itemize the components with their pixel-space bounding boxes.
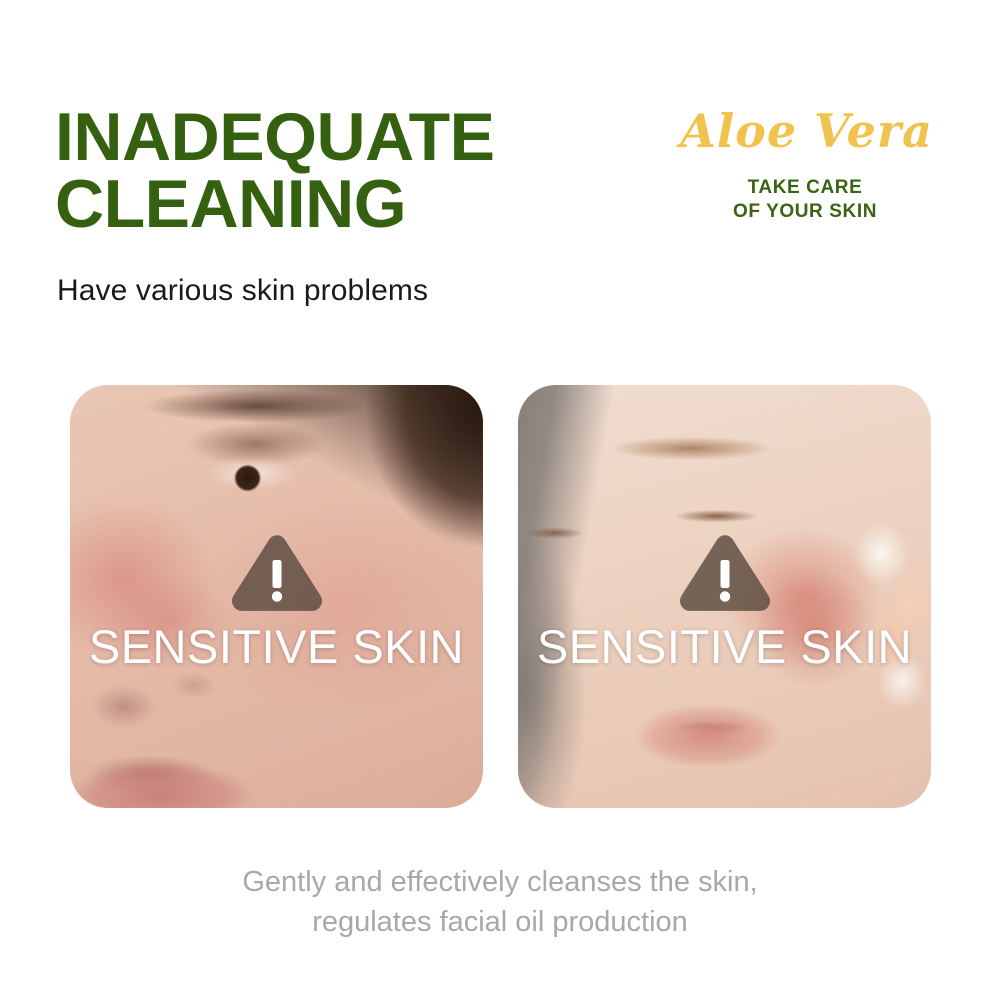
photo-card-right: SENSITIVE SKIN	[518, 385, 931, 808]
warning-triangle-icon	[679, 533, 771, 613]
brand-name: Aloe Vera	[680, 108, 930, 154]
footer-caption: Gently and effectively cleanses the skin…	[0, 862, 1000, 942]
photo-card-left: SENSITIVE SKIN	[70, 385, 483, 808]
brand-logo: Aloe Vera TAKE CARE OF YOUR SKIN	[680, 108, 930, 225]
poster-canvas: INADEQUATE CLEANING Have various skin pr…	[0, 0, 1000, 983]
warning-triangle-icon	[231, 533, 323, 613]
headline-line-1: INADEQUATE	[55, 104, 675, 171]
headline-line-2: CLEANING	[55, 171, 675, 238]
page-subtitle: Have various skin problems	[57, 274, 428, 308]
footer-caption-line-1: Gently and effectively cleanses the skin…	[0, 862, 1000, 902]
card-label-left: SENSITIVE SKIN	[70, 623, 483, 670]
brand-tagline-line-1: TAKE CARE	[680, 176, 930, 200]
footer-caption-line-2: regulates facial oil production	[0, 902, 1000, 942]
brand-tagline-line-2: OF YOUR SKIN	[680, 200, 930, 224]
card-label-right: SENSITIVE SKIN	[518, 623, 931, 670]
page-title: INADEQUATE CLEANING	[55, 104, 675, 237]
brand-tagline: TAKE CARE OF YOUR SKIN	[680, 176, 930, 225]
